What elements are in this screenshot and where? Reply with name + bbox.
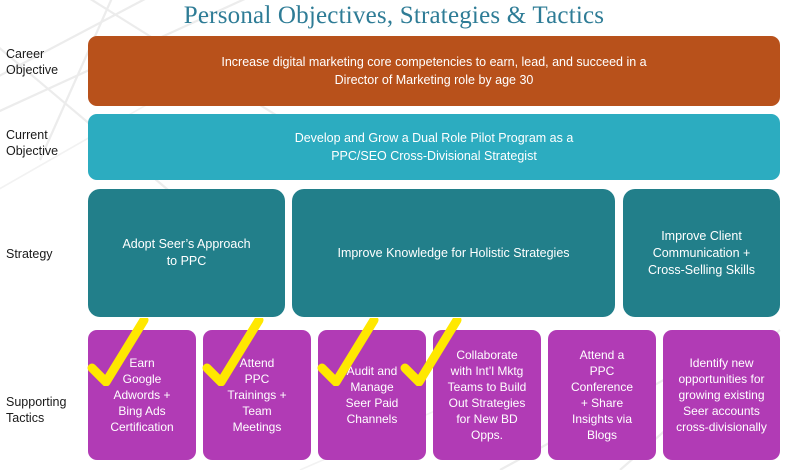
row-label-current-objective: Current Objective [6,127,86,159]
page-title: Personal Objectives, Strategies & Tactic… [0,2,788,30]
current-objective-box[interactable]: Develop and Grow a Dual Role Pilot Progr… [88,114,780,180]
tactic-text-2: Attend PPC Trainings + Team Meetings [209,355,305,435]
tactic-text-6: Identify new opportunities for growing e… [669,355,774,435]
career-objective-box[interactable]: Increase digital marketing core competen… [88,36,780,106]
tactic-text-4: Collaborate with Int’l Mktg Teams to Bui… [439,347,535,443]
tactic-text-3: Audit and Manage Seer Paid Channels [324,363,420,427]
row-label-career-objective: Career Objective [6,46,86,78]
strategy-text-1: Adopt Seer’s Approach to PPC [94,236,279,270]
strategy-box-1[interactable]: Adopt Seer’s Approach to PPC [88,189,285,317]
tactic-box-4[interactable]: Collaborate with Int’l Mktg Teams to Bui… [433,330,541,460]
tactic-box-6[interactable]: Identify new opportunities for growing e… [663,330,780,460]
tactic-text-1: Earn Google Adwords + Bing Ads Certifica… [94,355,190,435]
tactic-text-5: Attend a PPC Conference + Share Insights… [554,347,650,443]
slide-canvas: Personal Objectives, Strategies & Tactic… [0,0,788,470]
strategy-box-2[interactable]: Improve Knowledge for Holistic Strategie… [292,189,615,317]
tactic-box-1[interactable]: Earn Google Adwords + Bing Ads Certifica… [88,330,196,460]
career-objective-text: Increase digital marketing core competen… [94,53,774,89]
strategy-text-3: Improve Client Communication + Cross-Sel… [629,228,774,279]
strategy-box-3[interactable]: Improve Client Communication + Cross-Sel… [623,189,780,317]
current-objective-text: Develop and Grow a Dual Role Pilot Progr… [94,129,774,165]
tactic-box-2[interactable]: Attend PPC Trainings + Team Meetings [203,330,311,460]
row-label-strategy: Strategy [6,246,86,262]
strategy-text-2: Improve Knowledge for Holistic Strategie… [298,245,609,262]
row-label-supporting-tactics: Supporting Tactics [6,394,86,426]
tactic-box-5[interactable]: Attend a PPC Conference + Share Insights… [548,330,656,460]
tactic-box-3[interactable]: Audit and Manage Seer Paid Channels [318,330,426,460]
